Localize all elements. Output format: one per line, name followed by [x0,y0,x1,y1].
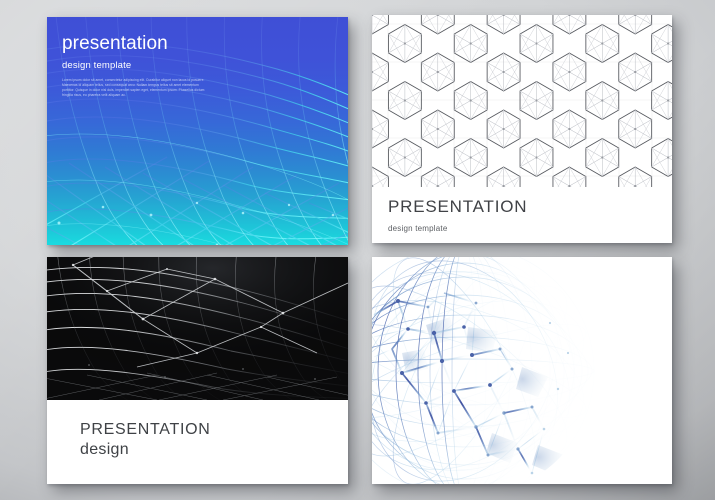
sphere-mesh-area [372,257,672,484]
panel-dark-subtitle: design [80,440,211,460]
panel-hex-subtitle: design template [388,225,527,233]
hexagon-pattern-area [372,15,672,187]
panel-blue-body-text: Lorem ipsum dolor sit amet, consectetur … [62,78,207,98]
panel-blue-title: presentation [62,34,267,53]
panel-dark-title: PRESENTATION [80,420,211,440]
panel-hex-copy-block: PRESENTATION design template [388,198,527,233]
sphere-mesh-graphic [372,257,672,484]
panel-hex-title: PRESENTATION [388,198,527,215]
panel-blue-gradient-cover[interactable]: presentation design template Lorem ipsum… [47,17,348,245]
panel-blue-copy-block: presentation design template Lorem ipsum… [62,34,267,98]
poster-canvas: presentation design template Lorem ipsum… [0,0,715,500]
dark-mesh-graphic [47,257,348,400]
hexagon-lattice-graphic [372,15,672,187]
panel-sphere-mesh-cover[interactable] [372,257,672,484]
panel-dark-copy-block: PRESENTATION design [80,420,211,461]
panel-hexagon-cover[interactable]: PRESENTATION design template [372,15,672,243]
panel-dark-mesh-cover[interactable]: PRESENTATION design [47,257,348,484]
dark-mesh-area [47,257,348,400]
panel-blue-subtitle: design template [62,61,267,71]
